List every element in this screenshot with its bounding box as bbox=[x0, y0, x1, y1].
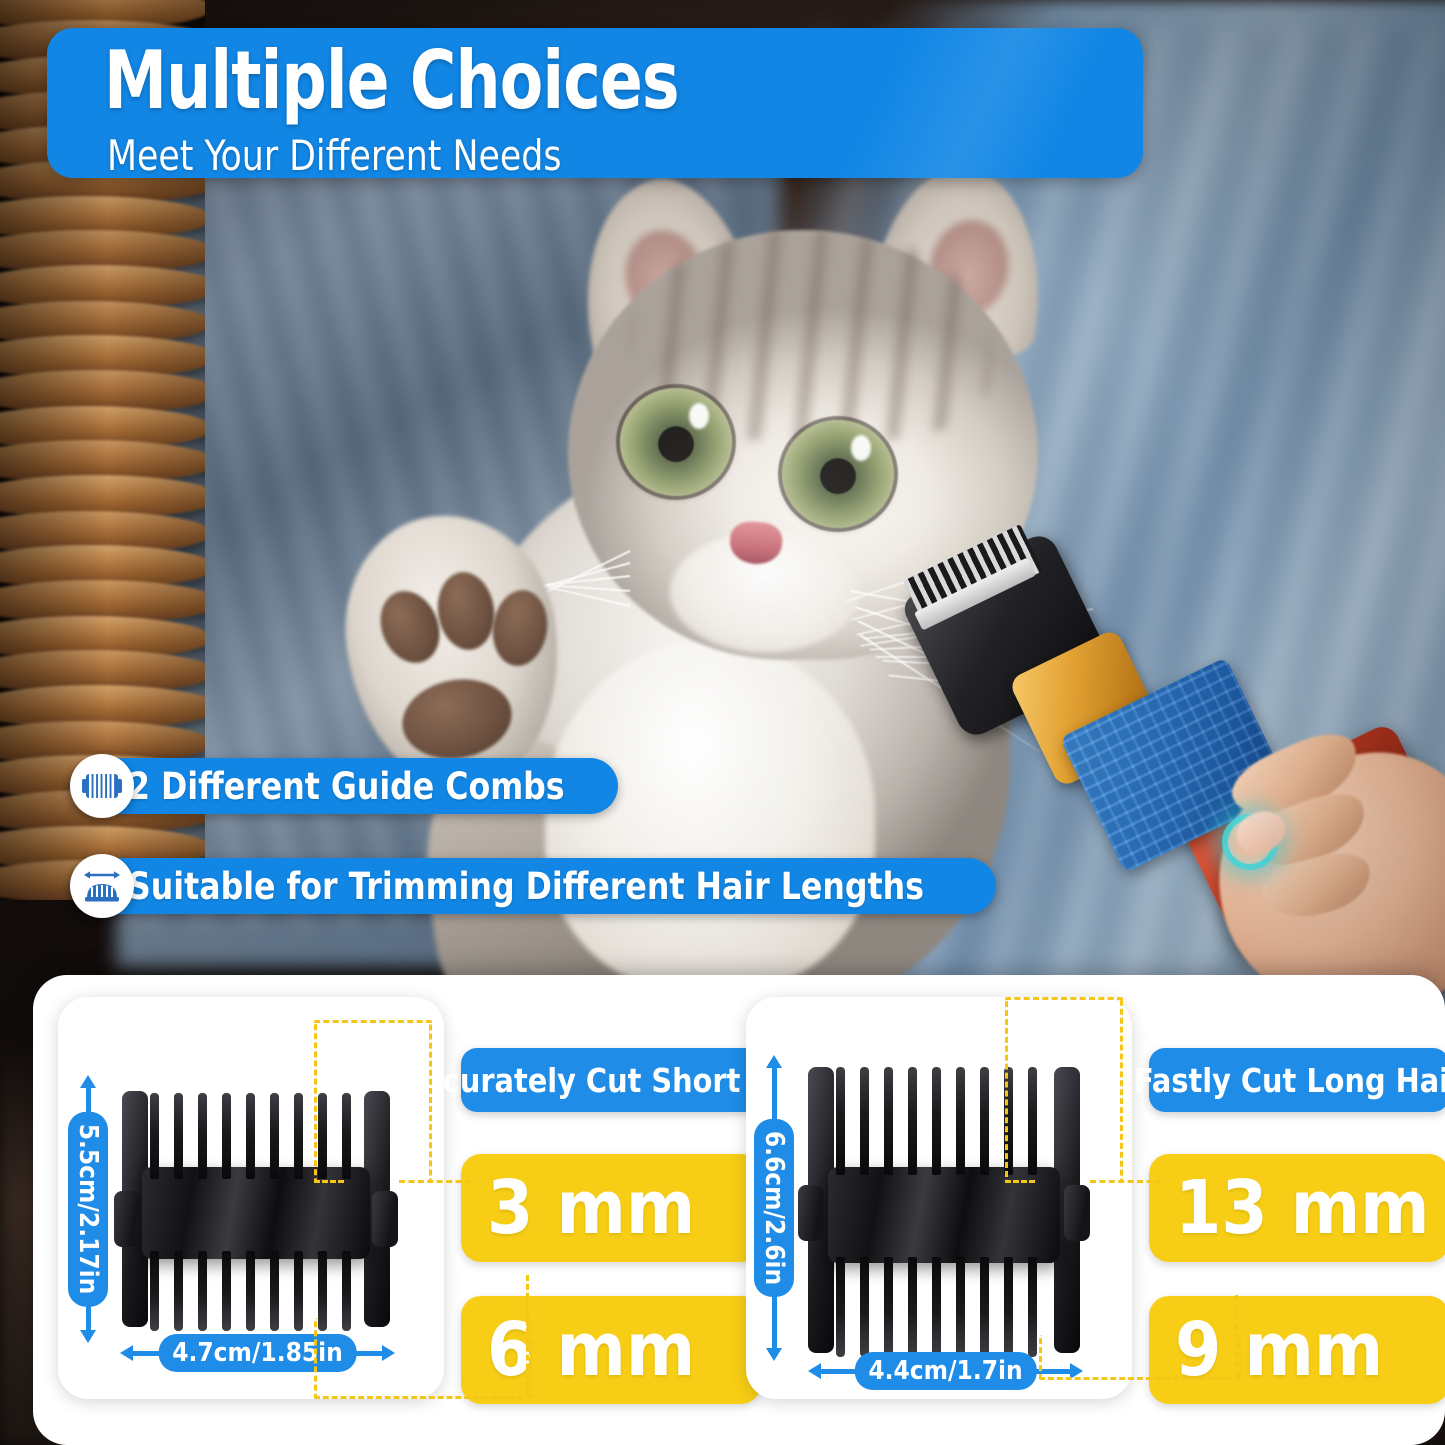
comb-width-icon bbox=[70, 854, 134, 918]
long-hair-title-tag: Fastly Cut Long Hair bbox=[1149, 1048, 1445, 1112]
short-hair-title-tag: Accurately Cut Short Hair bbox=[461, 1048, 761, 1112]
callout-box-long-top bbox=[1005, 997, 1123, 1183]
banner-sheen bbox=[705, 28, 1143, 178]
callout-box-short-bottom bbox=[314, 1318, 532, 1399]
height-label: 6.6cm/2.6in bbox=[754, 1119, 794, 1297]
callout-line-short-bottom bbox=[526, 1275, 529, 1396]
height-label: 5.5cm/2.17in bbox=[68, 1112, 108, 1307]
spec-panel: 5.5cm/2.17in 4.7cm/1.85in Accurately Cut… bbox=[33, 975, 1445, 1445]
callout-line-long-bottom bbox=[1235, 1295, 1238, 1377]
callout-line-long-top bbox=[1005, 1180, 1035, 1183]
feature-badge-guide-combs: 2 Different Guide Combs bbox=[70, 755, 618, 817]
width-label: 4.4cm/1.7in bbox=[854, 1352, 1036, 1390]
callout-line-long-top-2 bbox=[1090, 1180, 1162, 1183]
size-tag-3mm: 3 mm bbox=[461, 1154, 761, 1262]
short-comb-height-dimension: 5.5cm/2.17in bbox=[80, 1075, 96, 1343]
feature-badge-hair-lengths: Suitable for Trimming Different Hair Len… bbox=[70, 855, 996, 917]
callout-line-short-top-2 bbox=[399, 1180, 471, 1183]
product-infographic: Multiple Choices Meet Your Different Nee… bbox=[0, 0, 1445, 1445]
size-value: 3 mm bbox=[487, 1165, 695, 1251]
callout-box-long-bottom bbox=[1039, 1335, 1241, 1380]
header-banner: Multiple Choices Meet Your Different Nee… bbox=[47, 28, 1143, 178]
callout-box-short-top bbox=[314, 1020, 432, 1183]
comb-title: Fastly Cut Long Hair bbox=[1134, 1061, 1445, 1100]
callout-line-short-top bbox=[314, 1180, 344, 1183]
size-value: 13 mm bbox=[1175, 1165, 1430, 1251]
page-title: Multiple Choices bbox=[104, 34, 679, 127]
page-subtitle: Meet Your Different Needs bbox=[107, 131, 561, 180]
pet-clipper bbox=[900, 540, 1445, 1010]
long-comb-height-dimension: 6.6cm/2.6in bbox=[766, 1055, 782, 1361]
feature-badge-pill: Suitable for Trimming Different Hair Len… bbox=[70, 858, 996, 914]
size-tag-13mm: 13 mm bbox=[1149, 1154, 1445, 1262]
feature-label: 2 Different Guide Combs bbox=[128, 765, 565, 808]
feature-label: Suitable for Trimming Different Hair Len… bbox=[128, 865, 924, 908]
feature-badge-pill: 2 Different Guide Combs bbox=[70, 758, 618, 814]
clipper-blade-icon bbox=[70, 754, 134, 818]
